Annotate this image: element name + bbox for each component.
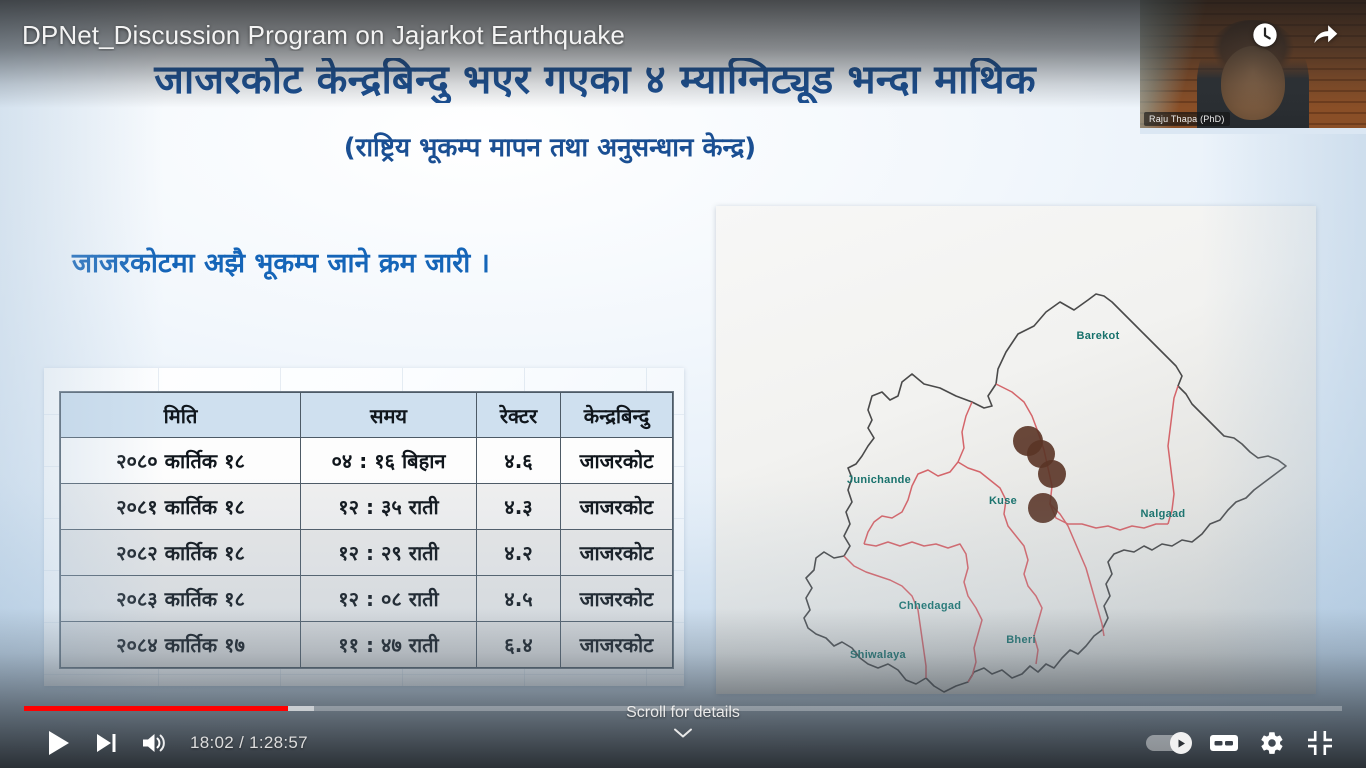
autoplay-toggle[interactable] — [1146, 732, 1192, 754]
progress-played — [24, 706, 288, 711]
map-label-bheri: Bheri — [1006, 634, 1036, 646]
right-controls — [1138, 719, 1344, 767]
table-row: २०८० कार्तिक १८ ०४ : १६ बिहान ४.६ जाजरको… — [61, 438, 673, 484]
table-row: २०८३ कार्तिक १८ १२ : ०८ राती ४.५ जाजरकोट — [61, 576, 673, 622]
settings-button[interactable] — [1248, 719, 1296, 767]
volume-button[interactable] — [130, 719, 178, 767]
webcam-speaker-name: Raju Thapa (PhD) — [1144, 112, 1230, 126]
autoplay-knob — [1170, 732, 1192, 754]
map-label-barekot: Barekot — [1076, 330, 1119, 342]
map-label-shiwalaya: Shiwalaya — [850, 649, 906, 661]
table-row: २०८१ कार्तिक १८ १२ : ३५ राती ४.३ जाजरकोट — [61, 484, 673, 530]
jajarkot-district-map-panel: Barekot Junichande Kuse Nalgaad Chhedaga… — [716, 206, 1316, 694]
map-label-kuse: Kuse — [989, 495, 1017, 507]
cell-magnitude: ४.३ — [477, 484, 561, 530]
autoplay-play-icon — [1176, 738, 1187, 749]
map-label-nalgaad: Nalgaad — [1141, 508, 1186, 520]
cell-epicenter: जाजरकोट — [561, 438, 673, 484]
slide-lead-text: जाजरकोटमा अझै भूकम्प जाने क्रम जारी । — [72, 243, 490, 280]
column-header-epicenter: केन्द्रबिन्दु — [561, 393, 673, 438]
district-map-svg: Barekot Junichande Kuse Nalgaad Chhedaga… — [716, 206, 1316, 694]
video-title[interactable]: DPNet_Discussion Program on Jajarkot Ear… — [22, 20, 625, 51]
municipality-boundary-junichande — [864, 402, 972, 544]
municipality-boundary-chhedagad-bheri — [864, 542, 982, 682]
table-row: २०८४ कार्तिक १७ ११ : ४७ राती ६.४ जाजरकोट — [61, 622, 673, 668]
cell-date: २०८३ कार्तिक १८ — [61, 576, 301, 622]
column-header-magnitude: रेक्टर — [477, 393, 561, 438]
cell-epicenter: जाजरकोट — [561, 530, 673, 576]
share-arrow-icon — [1310, 20, 1340, 55]
top-right-actions — [1242, 14, 1348, 60]
settings-gear-icon — [1259, 730, 1285, 756]
progress-bar[interactable] — [24, 706, 1342, 711]
cell-magnitude: ४.५ — [477, 576, 561, 622]
municipality-boundary-barekot-nalgaad — [1168, 386, 1178, 524]
cell-time: १२ : ०८ राती — [301, 576, 477, 622]
volume-icon — [140, 730, 168, 756]
cell-magnitude: ४.२ — [477, 530, 561, 576]
spreadsheet-screenshot-panel: मिति समय रेक्टर केन्द्रबिन्दु २०८० कार्त… — [44, 368, 684, 686]
cell-time: १२ : २९ राती — [301, 530, 477, 576]
clock-icon — [1251, 21, 1279, 54]
column-header-date: मिति — [61, 393, 301, 438]
column-header-time: समय — [301, 393, 477, 438]
play-button[interactable] — [34, 719, 82, 767]
exit-fullscreen-icon — [1307, 730, 1333, 756]
cell-date: २०८४ कार्तिक १७ — [61, 622, 301, 668]
cell-epicenter: जाजरकोट — [561, 622, 673, 668]
youtube-fullscreen-player: जाजरकोट केन्द्रबिन्दु भएर गएका ४ म्याग्न… — [0, 0, 1366, 768]
webcam-bottom-edge — [1140, 128, 1366, 134]
watch-later-button[interactable] — [1242, 14, 1288, 60]
closed-captions-icon — [1209, 732, 1239, 754]
autoplay-button[interactable] — [1138, 719, 1200, 767]
cell-date: २०८० कार्तिक १८ — [61, 438, 301, 484]
share-button[interactable] — [1302, 14, 1348, 60]
cell-time: ०४ : १६ बिहान — [301, 438, 477, 484]
epicenter-marker — [1038, 460, 1066, 488]
subtitles-button[interactable] — [1200, 719, 1248, 767]
next-video-icon — [93, 730, 119, 756]
exit-fullscreen-button[interactable] — [1296, 719, 1344, 767]
cell-epicenter: जाजरकोट — [561, 576, 673, 622]
cell-epicenter: जाजरकोट — [561, 484, 673, 530]
player-controls: 18:02 / 1:28:57 — [0, 718, 1366, 768]
table-header-row: मिति समय रेक्टर केन्द्रबिन्दु — [61, 393, 673, 438]
cell-date: २०८२ कार्तिक १८ — [61, 530, 301, 576]
district-outline — [804, 294, 1286, 692]
slide-subtitle: (राष्ट्रिय भूकम्प मापन तथा अनुसन्धान केन… — [0, 128, 1100, 164]
slide-title: जाजरकोट केन्द्रबिन्दु भएर गएका ४ म्याग्न… — [0, 58, 1190, 103]
table-row: २०८२ कार्तिक १८ १२ : २९ राती ४.२ जाजरकोट — [61, 530, 673, 576]
map-label-chhedagad: Chhedagad — [899, 600, 962, 612]
cell-magnitude: ६.४ — [477, 622, 561, 668]
map-label-junichande: Junichande — [847, 474, 911, 486]
cell-magnitude: ४.६ — [477, 438, 561, 484]
time-display: 18:02 / 1:28:57 — [190, 733, 308, 753]
cell-date: २०८१ कार्तिक १८ — [61, 484, 301, 530]
play-icon — [43, 728, 73, 758]
earthquake-table: मिति समय रेक्टर केन्द्रबिन्दु २०८० कार्त… — [60, 392, 673, 668]
epicenter-markers — [1013, 426, 1066, 523]
cell-time: ११ : ४७ राती — [301, 622, 477, 668]
next-video-button[interactable] — [82, 719, 130, 767]
cell-time: १२ : ३५ राती — [301, 484, 477, 530]
epicenter-marker — [1028, 493, 1058, 523]
